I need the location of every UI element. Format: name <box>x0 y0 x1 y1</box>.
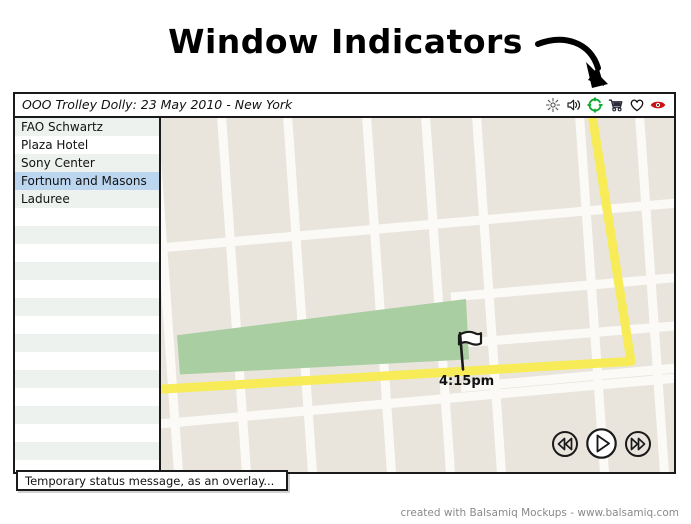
list-item-empty[interactable] <box>15 334 159 352</box>
status-message: Temporary status message, as an overlay.… <box>25 474 274 488</box>
fast-forward-button[interactable] <box>624 430 652 458</box>
list-item-empty[interactable] <box>15 226 159 244</box>
title-bar: OOO Trolley Dolly: 23 May 2010 - New Yor… <box>15 94 674 118</box>
app-window: OOO Trolley Dolly: 23 May 2010 - New Yor… <box>13 92 676 474</box>
list-item[interactable]: FAO Schwartz <box>15 118 159 136</box>
annotation-title: Window Indicators <box>0 22 691 61</box>
list-item-empty[interactable] <box>15 208 159 226</box>
play-button[interactable] <box>585 427 618 460</box>
eye-icon[interactable] <box>650 97 666 113</box>
window-title: OOO Trolley Dolly: 23 May 2010 - New Yor… <box>22 99 545 112</box>
speaker-icon[interactable] <box>566 97 582 113</box>
list-item-empty[interactable] <box>15 424 159 442</box>
list-item[interactable]: Sony Center <box>15 154 159 172</box>
list-item-empty[interactable] <box>15 244 159 262</box>
rewind-button[interactable] <box>551 430 579 458</box>
map-canvas[interactable] <box>161 118 674 472</box>
list-item-empty[interactable] <box>15 406 159 424</box>
list-item-empty[interactable] <box>15 370 159 388</box>
shopping-cart-icon[interactable] <box>608 97 624 113</box>
list-item[interactable]: Fortnum and Masons <box>15 172 159 190</box>
window-body: FAO SchwartzPlaza HotelSony CenterFortnu… <box>15 118 674 472</box>
indicator-tray <box>545 97 670 113</box>
brightness-icon[interactable] <box>545 97 561 113</box>
map-pane[interactable]: 4:15pm <box>161 118 674 472</box>
sync-icon[interactable] <box>587 97 603 113</box>
marker-time-label: 4:15pm <box>439 374 494 389</box>
list-item-empty[interactable] <box>15 352 159 370</box>
list-item[interactable]: Laduree <box>15 190 159 208</box>
list-item-empty[interactable] <box>15 388 159 406</box>
location-list[interactable]: FAO SchwartzPlaza HotelSony CenterFortnu… <box>15 118 161 472</box>
list-item[interactable]: Plaza Hotel <box>15 136 159 154</box>
playback-controls[interactable] <box>551 427 652 460</box>
list-item-empty[interactable] <box>15 316 159 334</box>
status-overlay: Temporary status message, as an overlay.… <box>16 470 288 491</box>
heart-icon[interactable] <box>629 97 645 113</box>
list-item-empty[interactable] <box>15 442 159 460</box>
list-item-empty[interactable] <box>15 298 159 316</box>
list-item-empty[interactable] <box>15 262 159 280</box>
footer-credit: created with Balsamiq Mockups - www.bals… <box>401 507 679 519</box>
list-item-empty[interactable] <box>15 280 159 298</box>
